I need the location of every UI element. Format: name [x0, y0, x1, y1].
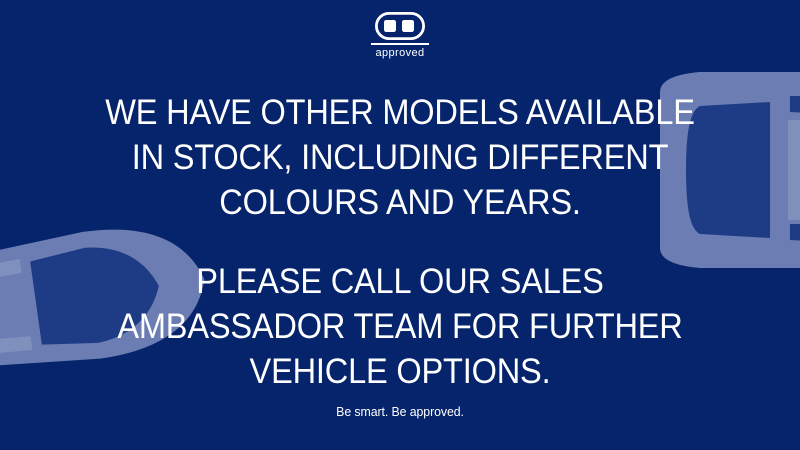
- brand-tagline: Be smart. Be approved.: [20, 405, 780, 418]
- message-paragraph-2: Please call our sales ambassador team fo…: [93, 259, 707, 394]
- message-paragraph-1: We have other models available in stock,…: [93, 90, 707, 225]
- brand-logo: approved: [0, 12, 800, 59]
- approved-car-logo-icon: [375, 12, 425, 40]
- logo-wordmark: approved: [375, 48, 424, 59]
- message-block: We have other models available in stock,…: [0, 0, 800, 450]
- logo-divider: [371, 43, 429, 45]
- promo-slide: approved We have other models available …: [0, 0, 800, 450]
